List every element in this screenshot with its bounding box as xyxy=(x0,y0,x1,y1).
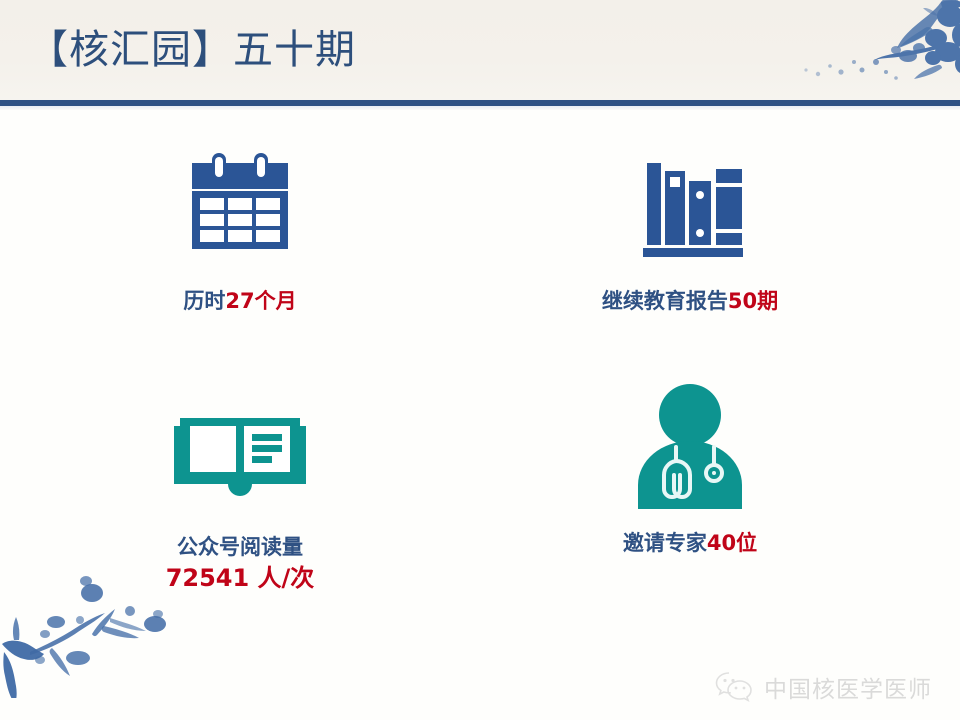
header-divider-shadow xyxy=(0,106,960,110)
stat-prefix: 继续教育报告 xyxy=(602,289,728,313)
stat-value: 40位 xyxy=(707,531,757,555)
slide-header: 【核汇园】五十期 xyxy=(0,0,960,100)
calendar-icon-wrap xyxy=(30,146,450,264)
slide-root: 【核汇园】五十期 xyxy=(0,0,960,720)
stat-prefix: 公众号阅读量 xyxy=(30,532,450,562)
stat-card-readers: 公众号阅读量 72541 人/次 xyxy=(30,392,450,594)
stat-prefix: 历时 xyxy=(183,289,225,313)
open-book-icon-wrap xyxy=(30,392,450,510)
stat-label-experts: 邀请专家40位 xyxy=(480,528,900,558)
doctor-icon-wrap xyxy=(480,388,900,506)
stat-value: 72541 人/次 xyxy=(30,562,450,594)
open-book-icon xyxy=(170,392,310,510)
watermark: 中国核医学医师 xyxy=(714,670,932,704)
plum-blossom-ink-branch-top-icon xyxy=(736,0,960,100)
doctor-icon xyxy=(620,381,760,513)
stat-card-reports: 继续教育报告50期 xyxy=(480,146,900,316)
wechat-icon xyxy=(714,670,754,704)
page-title: 【核汇园】五十期 xyxy=(28,22,356,78)
stat-label-readers: 公众号阅读量 72541 人/次 xyxy=(30,532,450,594)
calendar-icon xyxy=(180,149,300,261)
stat-prefix: 邀请专家 xyxy=(623,531,707,555)
stats-grid: 历时27个月 继续教育报告50期 xyxy=(0,120,960,660)
stat-card-duration: 历时27个月 xyxy=(30,146,450,316)
books-icon xyxy=(629,149,751,261)
stat-label-reports: 继续教育报告50期 xyxy=(480,286,900,316)
stat-card-experts: 邀请专家40位 xyxy=(480,388,900,558)
stat-label-duration: 历时27个月 xyxy=(30,286,450,316)
stat-value: 50期 xyxy=(728,289,778,313)
stat-value: 27个月 xyxy=(225,289,296,313)
watermark-text: 中国核医学医师 xyxy=(764,670,932,704)
books-icon-wrap xyxy=(480,146,900,264)
